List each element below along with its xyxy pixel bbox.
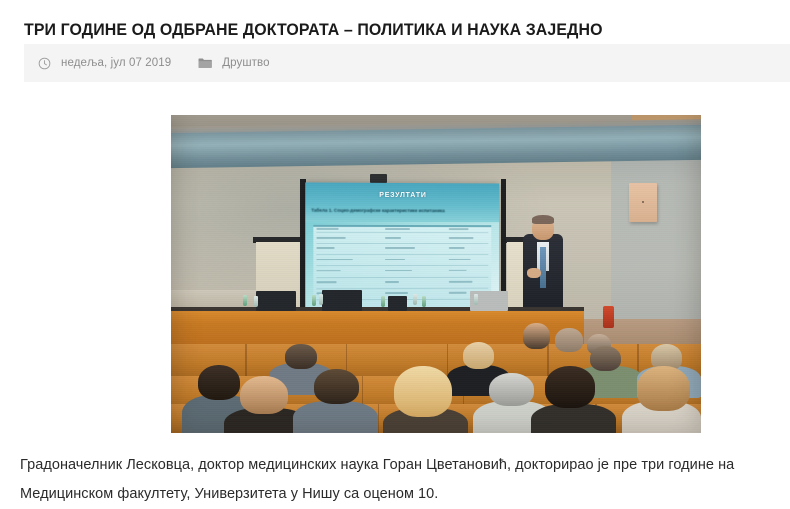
water-bottle — [243, 295, 247, 306]
lecture-hall-photo: РЕЗУЛТАТИ Табела 1. Социо-демографске ка… — [171, 115, 701, 433]
audience-head — [198, 365, 240, 400]
article-body: Градоначелник Лесковца, доктор медицинск… — [20, 451, 772, 509]
laptop — [256, 291, 296, 310]
audience-head — [489, 373, 534, 406]
audience-head — [463, 342, 495, 369]
clock-icon — [36, 55, 52, 71]
folder-icon — [197, 55, 213, 71]
presenter-hand — [527, 268, 541, 279]
presenter-tie — [540, 247, 546, 288]
slide-subtitle: Табела 1. Социо-демографске карактеристи… — [311, 208, 493, 214]
audience-head — [240, 376, 288, 414]
fire-extinguisher — [603, 306, 614, 328]
water-bottle — [312, 295, 316, 306]
water-bottle — [474, 294, 478, 305]
slide-header-band — [305, 183, 499, 223]
meta-category-label: Друштво — [222, 57, 269, 69]
audience-head — [555, 328, 583, 352]
laptop — [388, 296, 407, 310]
audience-head — [590, 346, 622, 371]
meta-date: недеља, јул 07 2019 — [36, 55, 171, 71]
water-bottle — [381, 296, 385, 307]
water-bottle — [422, 296, 426, 307]
audience-head — [285, 344, 317, 369]
page-title: ТРИ ГОДИНЕ ОД ОДБРАНЕ ДОКТОРАТА – ПОЛИТИ… — [24, 17, 738, 43]
slide-title: РЕЗУЛТАТИ — [305, 192, 499, 200]
article-page: ТРИ ГОДИНЕ ОД ОДБРАНЕ ДОКТОРАТА – ПОЛИТИ… — [0, 0, 790, 493]
laptop — [322, 290, 362, 311]
meta-category[interactable]: Друштво — [197, 55, 269, 71]
audience-head — [545, 366, 595, 407]
audience-head — [394, 366, 452, 417]
article-meta-bar: недеља, јул 07 2019 Друштво — [24, 44, 790, 82]
wall-speaker-box — [629, 183, 657, 221]
audience-shoulders — [293, 401, 378, 433]
water-bottle — [413, 294, 417, 305]
meta-date-label: недеља, јул 07 2019 — [61, 57, 171, 69]
audience-head — [637, 366, 690, 411]
audience-head — [314, 369, 359, 404]
water-bottle — [254, 296, 258, 307]
presenter-hair — [532, 215, 554, 223]
water-bottle — [319, 294, 323, 305]
featured-image[interactable]: РЕЗУЛТАТИ Табела 1. Социо-демографске ка… — [168, 112, 704, 436]
audience-shoulders — [531, 404, 616, 433]
audience-head — [523, 323, 550, 348]
